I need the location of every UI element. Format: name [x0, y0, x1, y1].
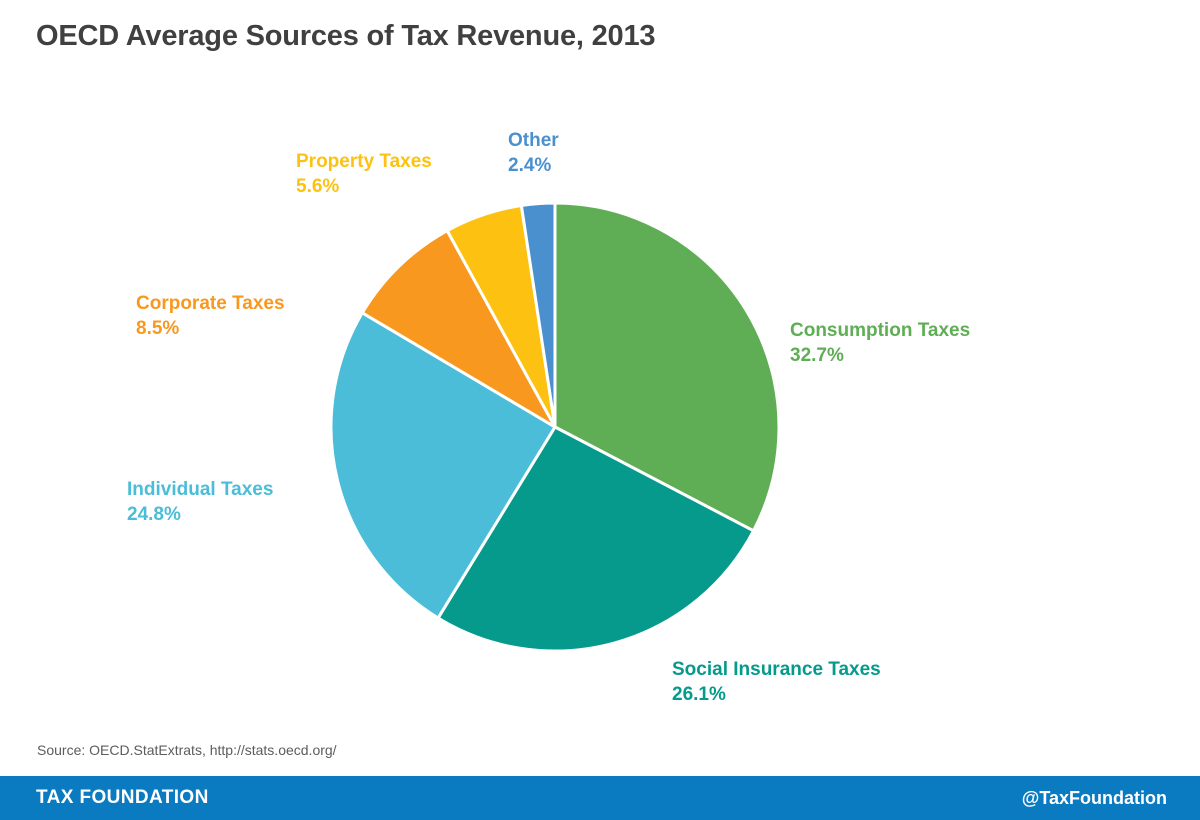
pie-label-value: 8.5%	[136, 316, 285, 341]
pie-label-value: 32.7%	[790, 343, 970, 368]
footer-bar: TAX FOUNDATION @TaxFoundation	[0, 776, 1200, 820]
pie-label-value: 24.8%	[127, 502, 273, 527]
source-note: Source: OECD.StatExtrats, http://stats.o…	[37, 742, 337, 758]
footer-social-handle[interactable]: @TaxFoundation	[1022, 788, 1167, 809]
pie-label-value: 26.1%	[672, 682, 881, 707]
pie-label-name: Corporate Taxes	[136, 291, 285, 316]
pie-label-name: Consumption Taxes	[790, 318, 970, 343]
pie-label-corporate-taxes: Corporate Taxes 8.5%	[136, 291, 285, 341]
pie-chart-svg	[0, 0, 1200, 770]
pie-slice-group	[331, 203, 779, 651]
pie-label-property-taxes: Property Taxes 5.6%	[296, 149, 432, 199]
pie-label-name: Other	[508, 128, 559, 153]
pie-label-social-insurance-taxes: Social Insurance Taxes 26.1%	[672, 657, 881, 707]
pie-label-consumption-taxes: Consumption Taxes 32.7%	[790, 318, 970, 368]
pie-chart: Consumption Taxes 32.7% Social Insurance…	[0, 0, 1200, 770]
pie-label-value: 5.6%	[296, 174, 432, 199]
pie-label-name: Social Insurance Taxes	[672, 657, 881, 682]
pie-label-value: 2.4%	[508, 153, 559, 178]
pie-label-name: Individual Taxes	[127, 477, 273, 502]
pie-label-name: Property Taxes	[296, 149, 432, 174]
pie-label-other: Other 2.4%	[508, 128, 559, 178]
footer-brand: TAX FOUNDATION	[36, 787, 209, 809]
pie-label-individual-taxes: Individual Taxes 24.8%	[127, 477, 273, 527]
